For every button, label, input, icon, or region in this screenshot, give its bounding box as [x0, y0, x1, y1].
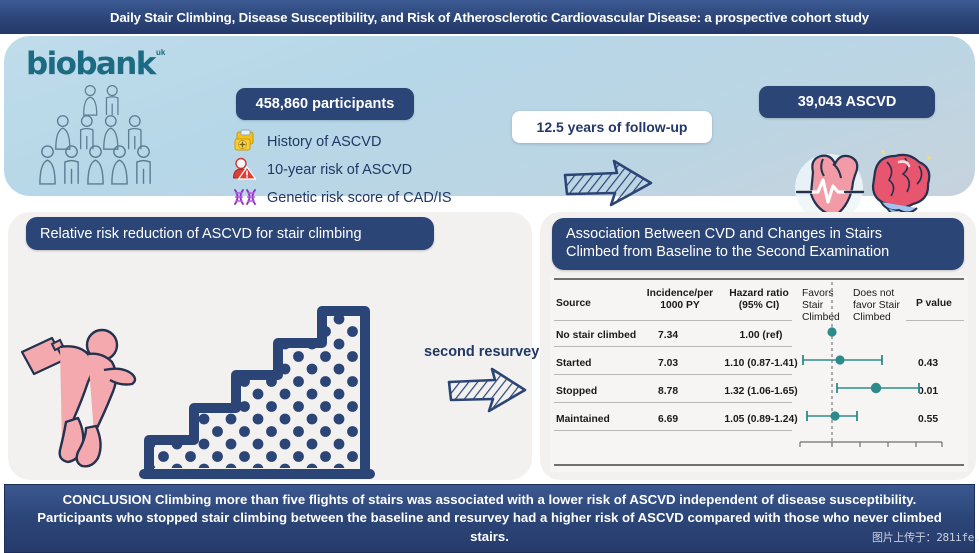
- participants-badge-label: 458,860 participants: [256, 96, 395, 112]
- table-row-rule-1: [554, 346, 792, 347]
- column-header-hazard-ratio: Hazard ratio (95% CI): [716, 288, 802, 312]
- table-header-rule: [554, 320, 792, 321]
- study-measures-list: History of ASCVD 10-year risk of ASCVD: [232, 128, 532, 212]
- list-item-label: Genetic risk score of CAD/IS: [267, 190, 452, 206]
- table-cell-source: No stair climbed: [556, 330, 636, 341]
- medical-folder-icon: [232, 129, 262, 155]
- study-overview-panel: biobank uk: [4, 36, 975, 196]
- table-row-rule-2: [554, 374, 792, 375]
- hatched-right-arrow-icon: [445, 366, 529, 421]
- column-header-incidence: Incidence/per 1000 PY: [634, 288, 726, 312]
- ascvd-outcome-badge: 39,043 ASCVD: [759, 86, 935, 118]
- forest-plot-card: Association Between CVD and Changes in S…: [540, 212, 976, 480]
- followup-badge: 12.5 years of follow-up: [512, 111, 712, 143]
- list-item-label: 10-year risk of ASCVD: [267, 162, 412, 178]
- forest-plot: [796, 276, 968, 472]
- table-cell-source: Maintained: [556, 414, 610, 425]
- forest-x-axis: [800, 442, 942, 447]
- table-cell-incidence: 7.03: [658, 358, 678, 369]
- table-cell-source: Started: [556, 358, 591, 369]
- list-item: History of ASCVD: [232, 128, 532, 155]
- list-item-label: History of ASCVD: [267, 134, 381, 150]
- forest-marker-maintained: [807, 411, 857, 421]
- table-row-rule-3: [554, 402, 792, 403]
- dna-helix-icon: [232, 185, 262, 211]
- list-item: 10-year risk of ASCVD: [232, 156, 532, 183]
- page-title: Daily Stair Climbing, Disease Susceptibi…: [110, 10, 869, 25]
- uk-biobank-logo: biobank uk: [16, 46, 206, 191]
- infographic-page: Daily Stair Climbing, Disease Susceptibi…: [0, 0, 979, 553]
- conclusion-banner: CONCLUSION Climbing more than five fligh…: [4, 484, 975, 553]
- hatched-right-arrow-icon: [561, 158, 655, 215]
- table-cell-incidence: 8.78: [658, 386, 678, 397]
- table-row-rule-4: [554, 430, 792, 431]
- biobank-uk-superscript: uk: [156, 48, 165, 57]
- forest-plot-title-bar: Association Between CVD and Changes in S…: [552, 218, 964, 270]
- forest-plot-title-line2: Climbed from Baseline to the Second Exam…: [566, 244, 889, 260]
- column-header-source: Source: [556, 298, 591, 310]
- conclusion-text: CONCLUSION Climbing more than five fligh…: [27, 491, 952, 546]
- forest-plot-title-line1: Association Between CVD and Changes in S…: [566, 226, 882, 242]
- list-item: Genetic risk score of CAD/IS: [232, 184, 532, 211]
- person-warning-icon: [232, 157, 262, 183]
- ascvd-outcome-label: 39,043 ASCVD: [798, 94, 897, 110]
- table-cell-source: Stopped: [556, 386, 597, 397]
- second-resurvey-label: second resurvey: [424, 344, 539, 360]
- watermark: 图片上传于：281ife.com: [872, 529, 979, 545]
- forest-marker-stopped: [837, 383, 919, 393]
- forest-marker-no-stair-climbed: [827, 327, 836, 336]
- table-cell-incidence: 7.34: [658, 330, 678, 341]
- forest-marker-started: [803, 355, 882, 365]
- followup-badge-label: 12.5 years of follow-up: [537, 119, 688, 135]
- participants-badge: 458,860 participants: [236, 88, 414, 120]
- hazard-ratio-table: Source Incidence/per 1000 PY Hazard rati…: [550, 276, 968, 472]
- table-cell-incidence: 6.69: [658, 414, 678, 425]
- person-with-briefcase-icon: [22, 330, 135, 466]
- table-cell-hazard-ratio: 1.00 (ref): [720, 330, 802, 341]
- page-title-bar: Daily Stair Climbing, Disease Susceptibi…: [0, 0, 979, 34]
- biobank-wordmark: biobank: [26, 46, 155, 82]
- group-of-people-icon: [24, 82, 199, 187]
